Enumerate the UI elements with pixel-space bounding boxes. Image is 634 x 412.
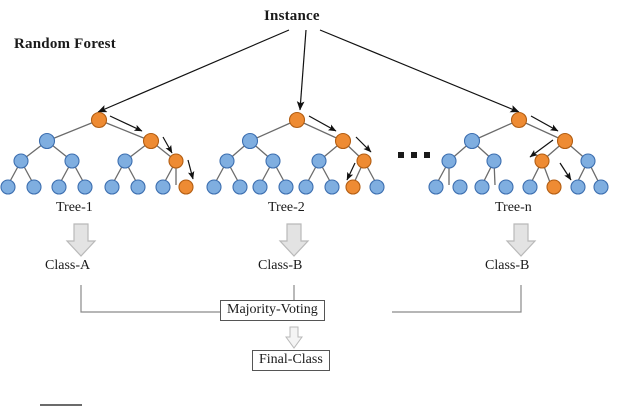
tree-n-class-label: Class-B bbox=[485, 258, 529, 274]
tree-1-nodes bbox=[1, 113, 193, 195]
block-arrows bbox=[67, 224, 535, 256]
instance-arrows bbox=[98, 30, 519, 112]
final-class-box[interactable]: Final-Class bbox=[252, 350, 330, 371]
ellipsis-icon bbox=[398, 152, 430, 158]
instance-label: Instance bbox=[264, 8, 320, 25]
tree-n-nodes bbox=[429, 113, 608, 195]
block-arrow-tree-n bbox=[507, 224, 535, 256]
caption-fragment bbox=[40, 404, 82, 406]
tree-1-graphic bbox=[1, 113, 193, 195]
tree-n-label: Tree-n bbox=[495, 200, 532, 216]
tree-2-nodes bbox=[207, 113, 384, 195]
block-arrow-tree-2 bbox=[280, 224, 308, 256]
tree-1-class-label: Class-A bbox=[45, 258, 90, 274]
tree-1-label: Tree-1 bbox=[56, 200, 93, 216]
tree-2-label: Tree-2 bbox=[268, 200, 305, 216]
tree-2-graphic bbox=[207, 113, 384, 195]
tree-n-graphic bbox=[429, 113, 608, 195]
tree-2-class-label: Class-B bbox=[258, 258, 302, 274]
block-arrow-tree-1 bbox=[67, 224, 95, 256]
random-forest-title: Random Forest bbox=[14, 36, 116, 53]
random-forest-diagram: Random Forest Instance Tree-1 Tree-2 Tre… bbox=[0, 0, 634, 412]
majority-voting-box[interactable]: Majority-Voting bbox=[220, 300, 325, 321]
block-arrow-final bbox=[286, 327, 302, 348]
